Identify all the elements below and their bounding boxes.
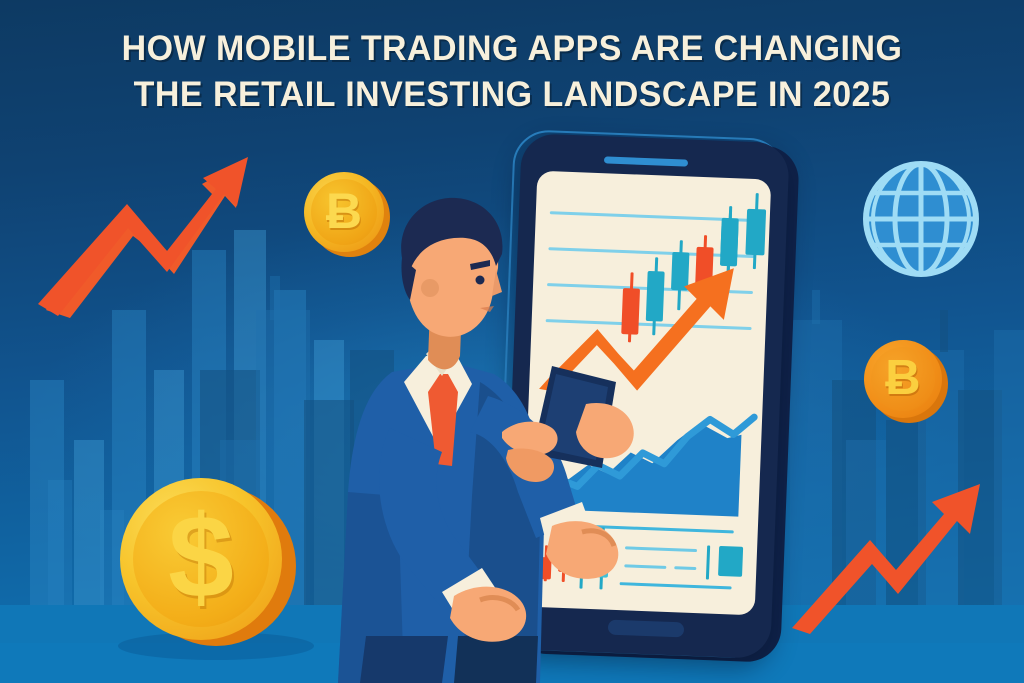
page-title: HOW MOBILE TRADING APPS ARE CHANGING THE… (15, 26, 1008, 118)
growth-arrow-icon (34, 152, 260, 318)
bitcoin-symbol: Ƀ (864, 340, 942, 418)
title-line-1: HOW MOBILE TRADING APPS ARE CHANGING (15, 26, 1008, 72)
growth-arrow-icon (784, 478, 1004, 634)
bitcoin-coin-icon: Ƀ (864, 340, 948, 424)
globe-icon (862, 160, 980, 278)
dollar-coin-icon: $ (120, 478, 296, 650)
poster-canvas: HOW MOBILE TRADING APPS ARE CHANGING THE… (0, 0, 1024, 683)
dollar-symbol: $ (120, 478, 282, 640)
title-line-2: THE RETAIL INVESTING LANDSCAPE IN 2025 (15, 72, 1008, 118)
fingers-overlay (500, 392, 640, 492)
